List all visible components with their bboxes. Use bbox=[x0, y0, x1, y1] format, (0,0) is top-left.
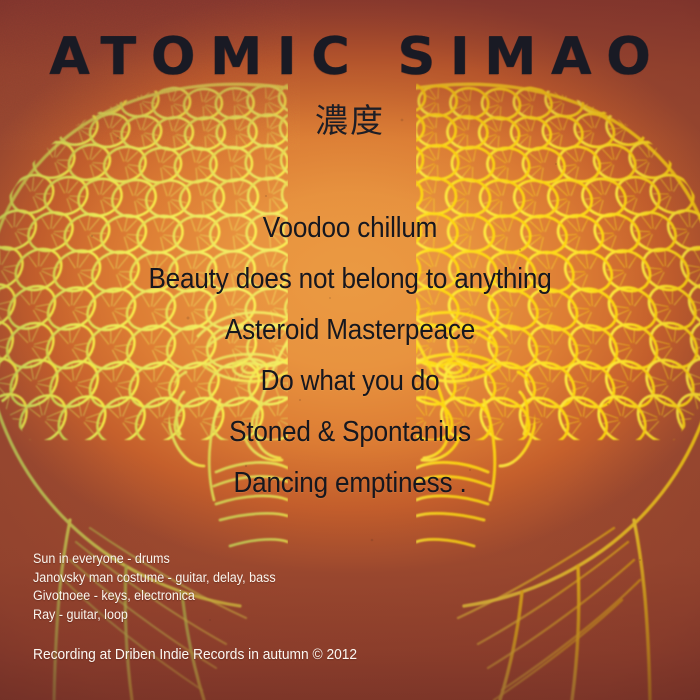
tracklist: Voodoo chillum Beauty does not belong to… bbox=[0, 214, 700, 498]
track-item: Voodoo chillum bbox=[35, 214, 665, 243]
credit-line: Janovsky man costume - guitar, delay, ba… bbox=[33, 569, 276, 588]
album-cover: ATOMIC SIMAO 濃度 Voodoo chillum Beauty do… bbox=[0, 0, 700, 700]
track-item: Do what you do bbox=[35, 367, 665, 396]
track-item: Asteroid Masterpeace bbox=[35, 316, 665, 345]
credit-line: Givotnoee - keys, electronica bbox=[33, 587, 276, 606]
credits-block: Sun in everyone - drums Janovsky man cos… bbox=[33, 550, 276, 624]
album-subtitle-cjk: 濃度 bbox=[0, 104, 700, 137]
recording-credit: Recording at Driben Indie Records in aut… bbox=[33, 648, 357, 663]
credit-line: Ray - guitar, loop bbox=[33, 606, 276, 625]
track-item: Beauty does not belong to anything bbox=[35, 265, 665, 294]
credit-line: Sun in everyone - drums bbox=[33, 550, 276, 569]
album-title: ATOMIC SIMAO bbox=[0, 31, 700, 83]
track-item: Stoned & Spontanius bbox=[35, 418, 665, 447]
track-item: Dancing emptiness . bbox=[35, 469, 665, 498]
